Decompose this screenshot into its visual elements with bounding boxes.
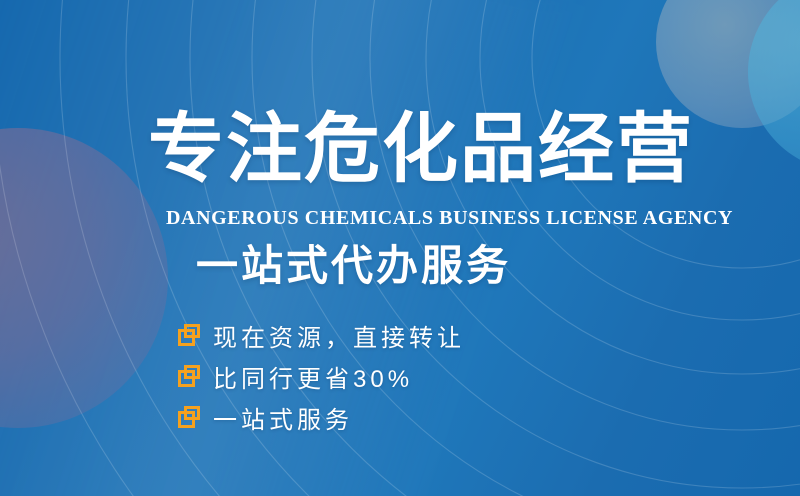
double-square-icon <box>178 406 200 428</box>
list-item: 现在资源，直接转让 <box>178 316 465 354</box>
list-item: 一站式服务 <box>178 398 465 436</box>
list-item-label: 一站式服务 <box>213 400 353 435</box>
secondary-headline: 一站式代办服务 <box>196 245 511 287</box>
page-title: 专注危化品经营 <box>148 112 694 188</box>
list-item: 比同行更省30% <box>178 357 465 395</box>
promotional-banner: 专注危化品经营 DANGEROUS CHEMICALS BUSINESS LIC… <box>0 0 800 496</box>
double-square-icon <box>178 324 200 346</box>
double-square-icon <box>178 365 200 387</box>
list-item-label: 现在资源，直接转让 <box>213 318 465 353</box>
banner-content: 专注危化品经营 DANGEROUS CHEMICALS BUSINESS LIC… <box>0 0 800 496</box>
feature-list: 现在资源，直接转让 比同行更省30% 一站式服务 <box>178 316 465 439</box>
list-item-label: 比同行更省30% <box>213 359 413 394</box>
subtitle-english: DANGEROUS CHEMICALS BUSINESS LICENSE AGE… <box>166 207 733 230</box>
